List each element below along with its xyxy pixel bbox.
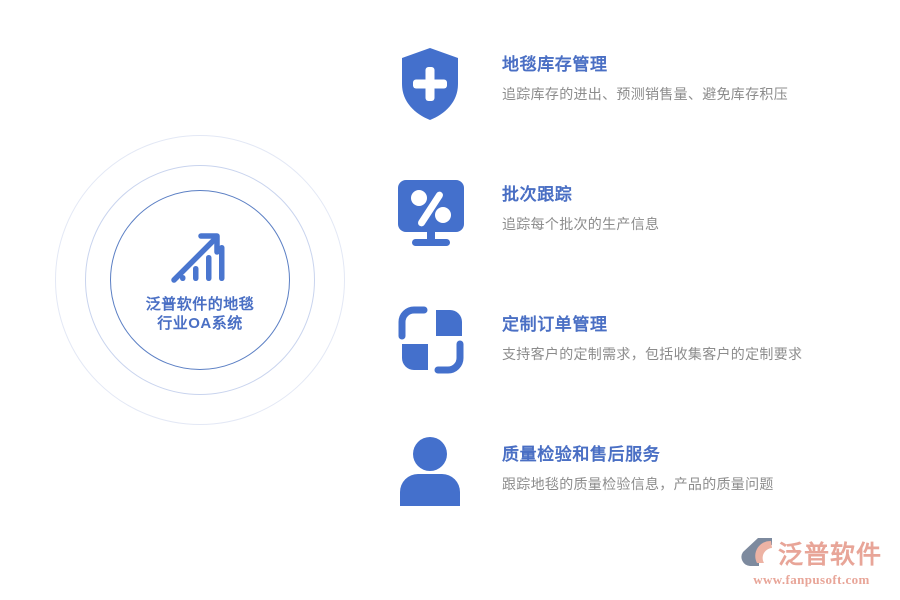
watermark-url: www.fanpusoft.com	[753, 572, 870, 588]
feature-item-quality-service[interactable]: 质量检验和售后服务 跟踪地毯的质量检验信息，产品的质量问题	[398, 436, 868, 516]
feature-description: 追踪每个批次的生产信息	[502, 214, 659, 234]
feature-description: 跟踪地毯的质量检验信息，产品的质量问题	[502, 474, 774, 494]
feature-item-custom-order[interactable]: 定制订单管理 支持客户的定制需求，包括收集客户的定制要求	[398, 306, 868, 436]
feature-item-inventory[interactable]: 地毯库存管理 追踪库存的进出、预测销售量、避免库存积压	[398, 46, 868, 176]
person-icon	[398, 436, 470, 516]
feature-text-block: 质量检验和售后服务 跟踪地毯的质量检验信息，产品的质量问题	[502, 436, 774, 494]
fanpu-logo-mark-icon	[741, 536, 775, 573]
emblem-label-line2: 行业OA系统	[146, 314, 255, 333]
emblem-label: 泛普软件的地毯 行业OA系统	[146, 295, 255, 333]
feature-text-block: 批次跟踪 追踪每个批次的生产信息	[502, 176, 659, 234]
growth-bar-chart-icon	[167, 227, 233, 289]
feature-item-batch-tracking[interactable]: 批次跟踪 追踪每个批次的生产信息	[398, 176, 868, 306]
feature-title: 地毯库存管理	[502, 54, 788, 76]
watermark-logo: 泛普软件 www.fanpusoft.com	[741, 536, 882, 588]
feature-description: 追踪库存的进出、预测销售量、避免库存积压	[502, 84, 788, 104]
emblem-label-line1: 泛普软件的地毯	[146, 295, 255, 314]
emblem-content: 泛普软件的地毯 行业OA系统	[110, 190, 290, 370]
feature-text-block: 定制订单管理 支持客户的定制需求，包括收集客户的定制要求	[502, 306, 802, 364]
feature-title: 批次跟踪	[502, 184, 659, 206]
feature-description: 支持客户的定制需求，包括收集客户的定制要求	[502, 344, 802, 364]
feature-text-block: 地毯库存管理 追踪库存的进出、预测销售量、避免库存积压	[502, 46, 788, 104]
brand-emblem: 泛普软件的地毯 行业OA系统	[45, 125, 355, 435]
feature-list: 地毯库存管理 追踪库存的进出、预测销售量、避免库存积压 批次跟踪 追踪每个批次的…	[398, 46, 868, 516]
quote-blocks-icon	[398, 306, 470, 386]
watermark-brand-name: 泛普软件	[778, 541, 882, 569]
watermark-top-row: 泛普软件	[741, 536, 882, 573]
monitor-percent-icon	[398, 176, 470, 256]
shield-plus-icon	[398, 46, 470, 126]
feature-title: 定制订单管理	[502, 314, 802, 336]
feature-title: 质量检验和售后服务	[502, 444, 774, 466]
